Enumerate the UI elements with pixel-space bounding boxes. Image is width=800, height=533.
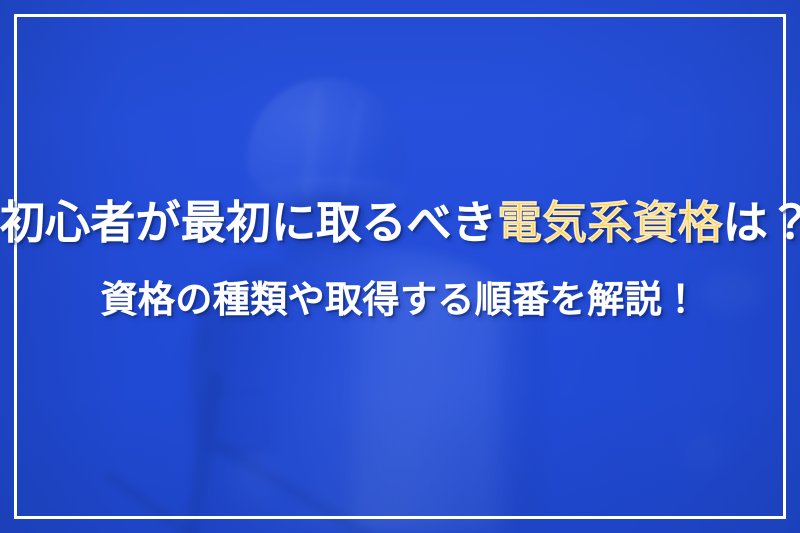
headline-part-1: 初心者が最初に取るべき [0,197,497,248]
headline-part-2: は？ [723,197,800,248]
headline: 初心者が最初に取るべき電気系資格は？ [0,196,800,249]
eyecatch-card: 初心者が最初に取るべき電気系資格は？ 資格の種類や取得する順番を解説！ [0,0,800,533]
subheadline: 資格の種類や取得する順番を解説！ [0,249,800,322]
headline-highlight: 電気系資格 [497,197,723,248]
text-block: 初心者が最初に取るべき電気系資格は？ 資格の種類や取得する順番を解説！ [0,196,800,322]
